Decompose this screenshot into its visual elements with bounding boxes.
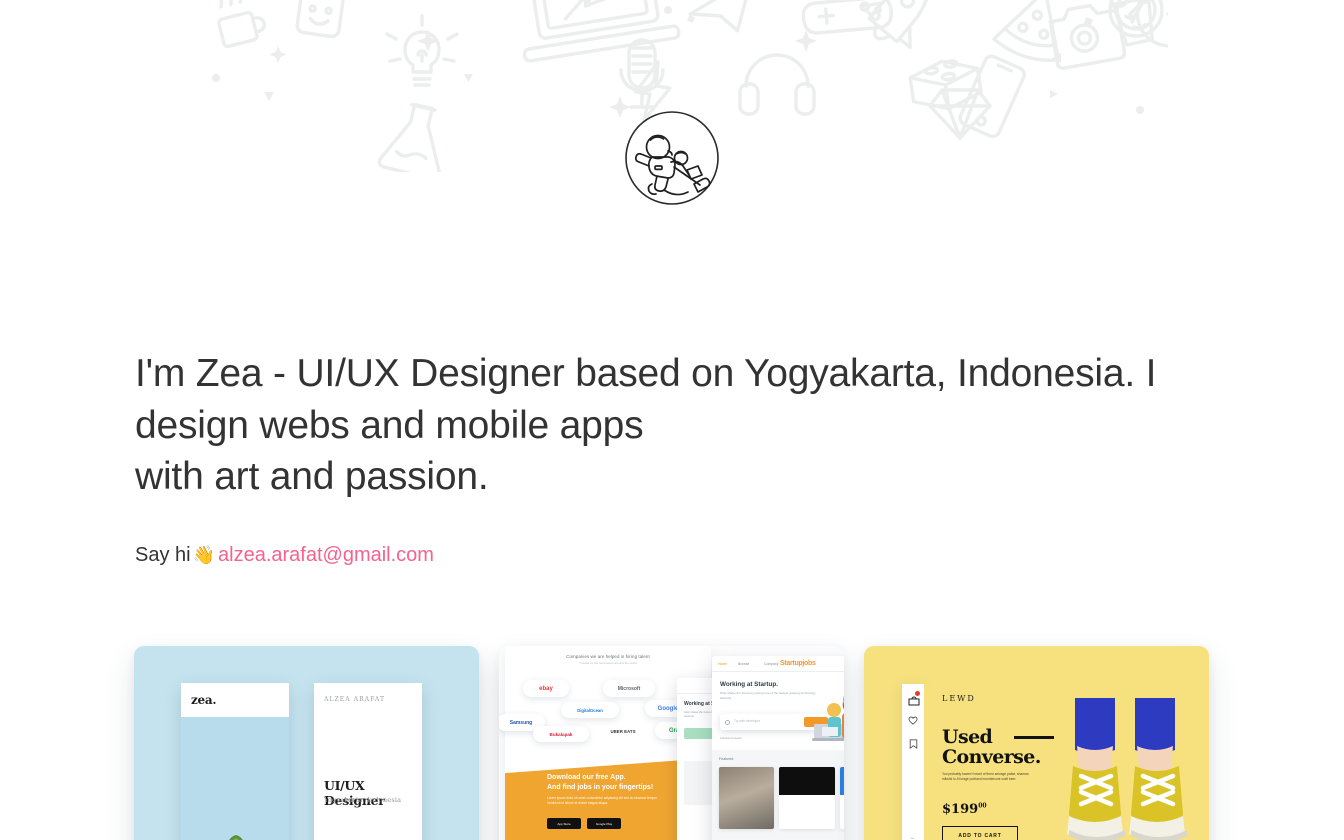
card2-tile-blue[interactable]: [840, 767, 844, 829]
project-card-converse-shop[interactable]: 1/4 LEWD Used Converse. You probably hav…: [864, 646, 1209, 840]
card2-googleplay-badge[interactable]: Google Play: [587, 818, 621, 829]
card1-logo-text: zea.: [191, 693, 216, 707]
card2-hero: Working at Startup. Help shape the futur…: [712, 672, 844, 750]
email-link[interactable]: alzea.arafat@gmail.com: [218, 544, 434, 566]
paper-plane-icon: [688, 0, 755, 34]
camera-icon: [1049, 1, 1126, 69]
card2-appstore-badge[interactable]: App Store: [547, 818, 581, 829]
card2-navbar: Home Browse Company Startupjobs Sign in: [712, 656, 844, 672]
lego-head-icon: [296, 0, 345, 37]
logo-digitalocean: DigitalOcean: [561, 702, 619, 718]
team-illustration: [812, 686, 844, 742]
card2-featured-label: Featured: [719, 757, 844, 761]
waving-hand-icon: 👋: [193, 545, 215, 565]
card1-location: Yogyakarta, Indonesia: [324, 796, 401, 804]
card2-tiles: [719, 767, 844, 829]
pencil-icon: [576, 0, 639, 12]
contact-prefix: Say hi: [135, 544, 191, 566]
popcorn-icon: [1108, 0, 1160, 46]
card2-brand: Startupjobs: [780, 660, 816, 667]
card3-sidebar-rail: 1/4: [902, 684, 924, 840]
logo-bukalapak: Bukalapak: [533, 726, 589, 742]
rocket-icon: [852, 0, 954, 58]
logo-microsoft: Microsoft: [603, 680, 655, 697]
microphone-icon: [621, 40, 663, 107]
card2-caption-sub: Trusted by the best teams around the wor…: [505, 661, 711, 665]
coffee-mug-icon: [212, 0, 267, 47]
flask-icon: [378, 100, 453, 172]
card3-shop-view: LEWD Used Converse. You probably haven't…: [924, 684, 1209, 840]
search-icon: [725, 720, 730, 725]
card2-featured: Featured Latest Jobs Newest Jobs: [712, 750, 844, 840]
card2-advanced-search[interactable]: Advanced search: [720, 736, 742, 740]
card3-brand: LEWD: [942, 694, 976, 703]
card1-back-panel: ALZEA ARAFAT UI/UX Designer Yogyakarta, …: [314, 683, 422, 840]
card2-caption: Companies we are helped in hiring talent: [505, 654, 711, 659]
shopping-bag-icon[interactable]: [908, 693, 919, 702]
card3-price-cents: 00: [978, 803, 986, 810]
card2-app-heading-2: And find jobs in your fingertips!: [547, 784, 653, 791]
card2-tile-dark[interactable]: [779, 767, 834, 829]
project-card-startup-jobs[interactable]: Companies we are helped in hiring talent…: [499, 646, 844, 840]
headline-line-1: I'm Zea - UI/UX Designer based on Yogyak…: [135, 352, 1156, 395]
heart-icon[interactable]: [908, 716, 918, 725]
contact-line: Say hi👋alzea.arafat@gmail.com: [135, 542, 434, 568]
laptop-icon: [510, 0, 679, 62]
logo-ebay: ebay: [523, 680, 569, 697]
card3-add-to-cart-button[interactable]: ADD TO CART: [942, 826, 1018, 840]
portfolio-page: I'm Zea - UI/UX Designer based on Yogyak…: [0, 0, 1344, 840]
hero-section: I'm Zea - UI/UX Designer based on Yogyak…: [135, 348, 1210, 503]
cart-badge: [915, 691, 920, 696]
smartphone-icon: [958, 54, 1026, 139]
page-title: I'm Zea - UI/UX Designer based on Yogyak…: [135, 348, 1210, 503]
card3-price: $19900: [942, 802, 987, 817]
nav-item-browse[interactable]: Browse: [738, 662, 749, 666]
lightbulb-icon: [387, 16, 457, 85]
bookmark-icon[interactable]: [909, 739, 918, 749]
headline-line-3: with art and passion.: [135, 451, 1210, 503]
converse-shoes-photo: [1017, 698, 1209, 840]
card3-price-value: $199: [942, 802, 978, 817]
project-card-business-card[interactable]: zea. ALZEA ARAFAT UI/UX Designer Yogyaka…: [134, 646, 479, 840]
card2-app-heading-1: Download our free App.: [547, 774, 626, 781]
project-gallery: zea. ALZEA ARAFAT UI/UX Designer Yogyaka…: [134, 646, 1210, 840]
pizza-slice-icon: [992, 0, 1078, 67]
card2-brand-text: Startupjobs: [780, 660, 816, 667]
card3-title-1: Used: [942, 726, 992, 748]
lego-brick-icon: [909, 56, 983, 113]
headline-line-2: design webs and mobile apps: [135, 404, 643, 447]
nav-item-home[interactable]: Home: [718, 662, 727, 666]
decorative-marks: [212, 0, 1144, 118]
astronaut-circle-logo[interactable]: [624, 110, 720, 206]
pacman-icon: [1138, 0, 1168, 46]
card1-front-panel: zea.: [181, 683, 289, 840]
headphones-icon: [740, 55, 814, 114]
diamond-icon: [930, 90, 990, 138]
card2-app-body: Lorem ipsum dolor sit amet consectetur a…: [547, 796, 667, 806]
card2-hero-body: Help shape the future by joining one of …: [720, 691, 816, 700]
nav-item-company[interactable]: Company: [764, 662, 779, 666]
card2-jobs-site: Home Browse Company Startupjobs Sign in …: [712, 656, 844, 840]
logo-ubereats: UBER EATS: [597, 724, 649, 739]
card1-logo-band: zea.: [181, 683, 289, 717]
card1-name: ALZEA ARAFAT: [324, 696, 412, 703]
card2-search-input[interactable]: Try web developer: [734, 719, 760, 723]
compass-icon: [1110, 0, 1162, 36]
gamepad-icon: [800, 0, 893, 34]
card2-tile-photo[interactable]: [719, 767, 774, 829]
plant-pot-icon: [212, 825, 260, 840]
